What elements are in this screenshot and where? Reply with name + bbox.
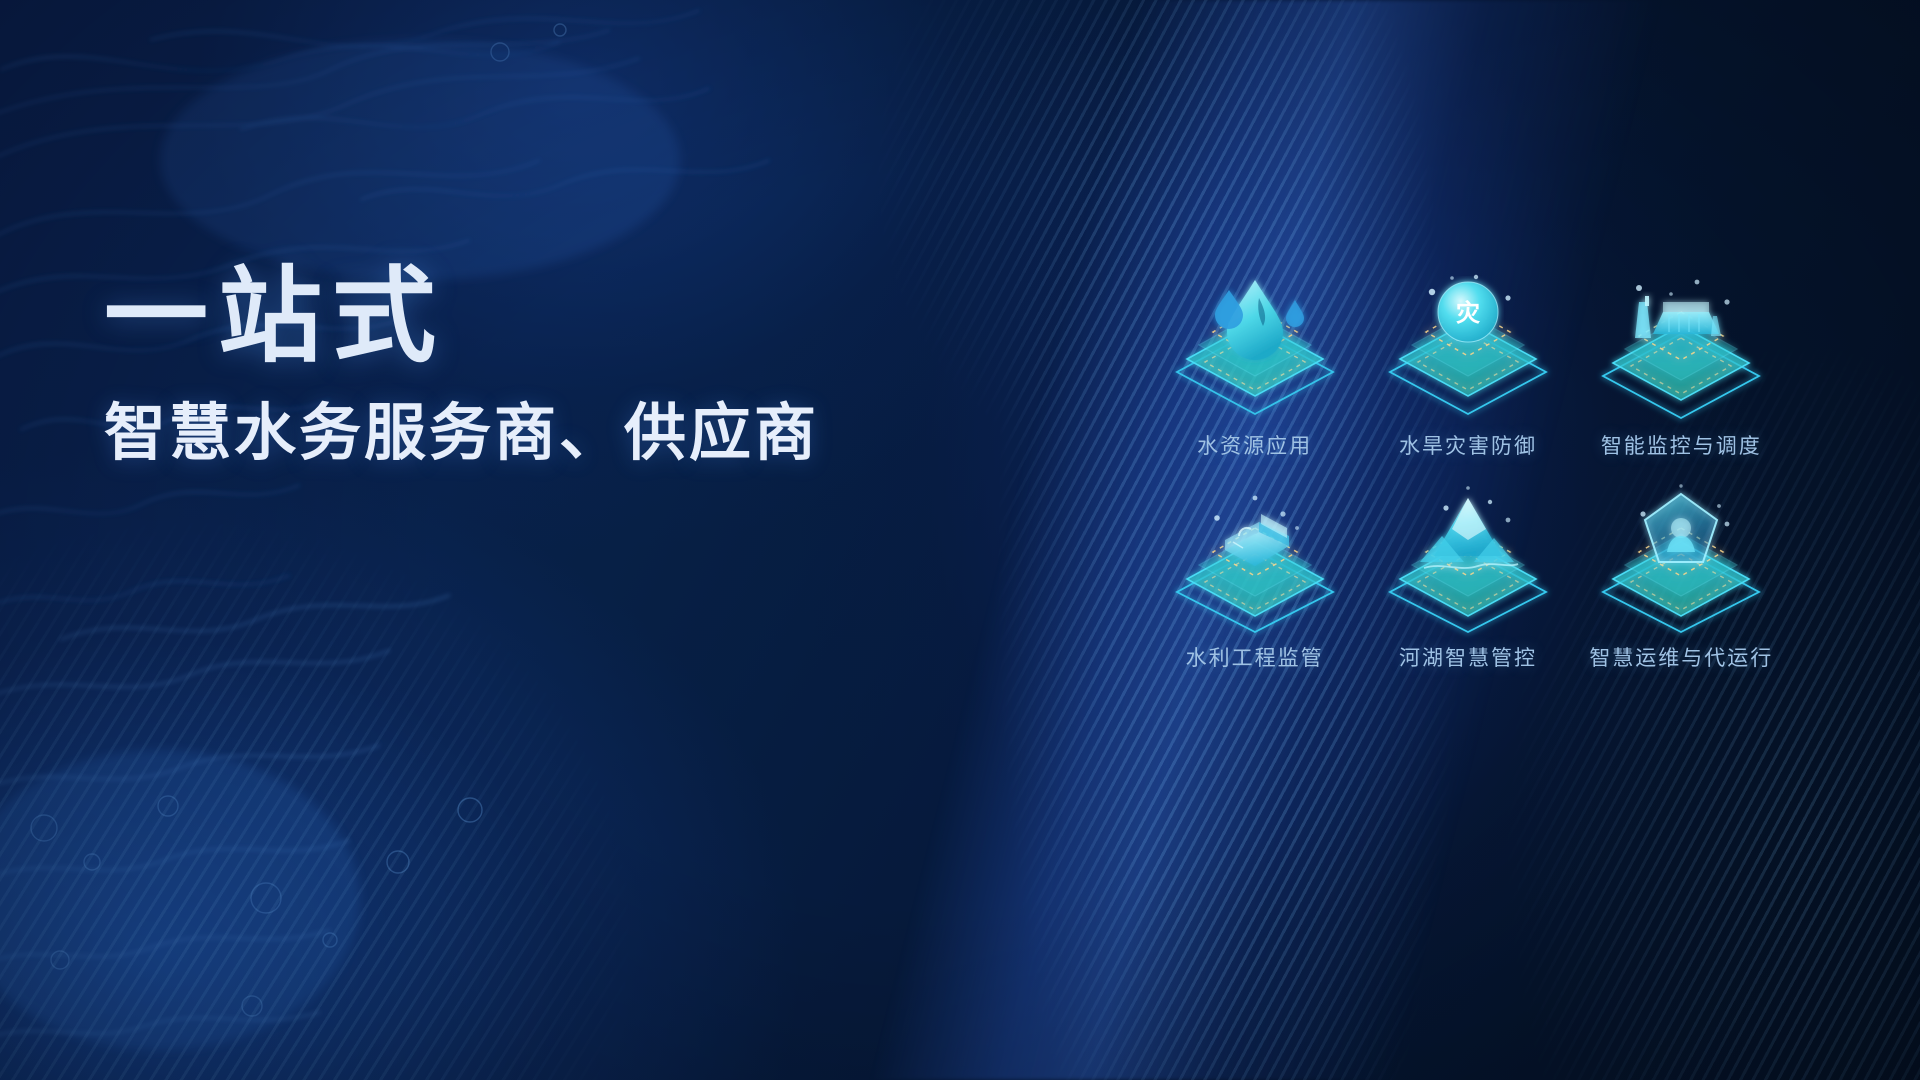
service-item-river-lake-control[interactable]: 河湖智慧管控 xyxy=(1361,484,1574,672)
service-label: 水利工程监管 xyxy=(1186,642,1324,672)
disaster-sphere-icon: 灾 xyxy=(1368,272,1568,420)
slide-canvas: 一站式 智慧水务服务商、供应商 xyxy=(0,0,1920,1080)
service-item-smart-operation[interactable]: 智慧运维与代运行 xyxy=(1575,484,1788,672)
service-item-water-resource[interactable]: 水资源应用 xyxy=(1148,272,1361,460)
dam-monitoring-icon xyxy=(1581,272,1781,420)
hydro-engineering-icon xyxy=(1155,484,1355,632)
service-item-intelligent-monitoring[interactable]: 智能监控与调度 xyxy=(1575,272,1788,460)
service-label: 水旱灾害防御 xyxy=(1399,430,1537,460)
service-item-flood-drought-defense[interactable]: 灾 水旱灾害防御 xyxy=(1361,272,1574,460)
service-label: 水资源应用 xyxy=(1197,430,1312,460)
page-subtitle: 智慧水务服务商、供应商 xyxy=(104,398,944,470)
water-drop-icon xyxy=(1155,272,1355,420)
service-label: 智能监控与调度 xyxy=(1601,430,1762,460)
service-label: 智慧运维与代运行 xyxy=(1589,642,1773,672)
river-lake-mountain-icon xyxy=(1368,484,1568,632)
hero-copy-block: 一站式 智慧水务服务商、供应商 xyxy=(104,262,944,470)
service-label: 河湖智慧管控 xyxy=(1399,642,1537,672)
page-title: 一站式 xyxy=(104,262,944,372)
shield-operation-icon xyxy=(1581,484,1781,632)
service-item-hydro-engineering[interactable]: 水利工程监管 xyxy=(1148,484,1361,672)
service-icon-grid: 水资源应用 xyxy=(1148,272,1788,672)
disaster-glyph: 灾 xyxy=(1456,299,1480,327)
